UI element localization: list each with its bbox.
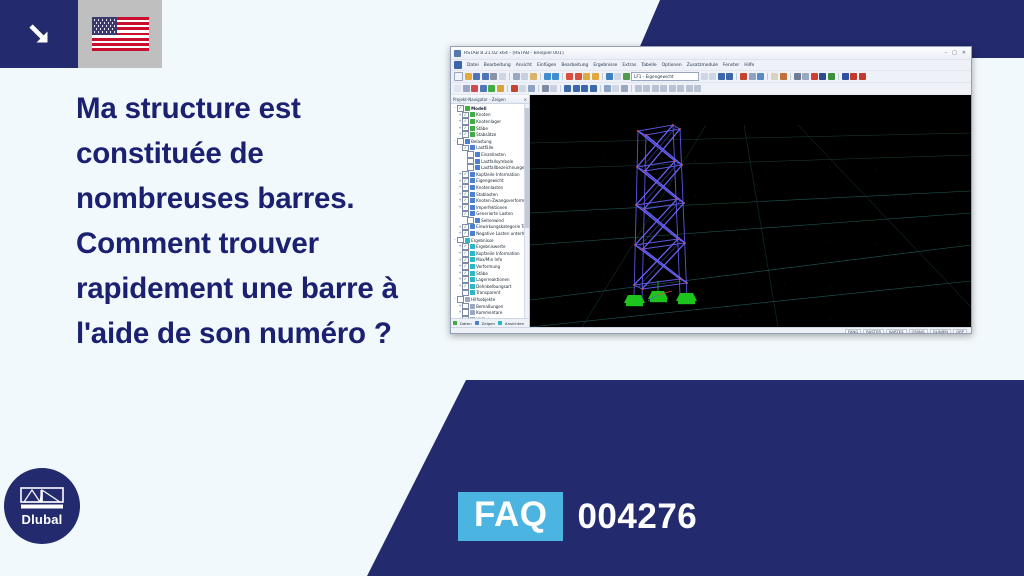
undo-icon[interactable] [544, 73, 551, 80]
application-body: Projekt-Navigator - Zeigen ✕ -✓Modell+✓K… [451, 95, 971, 327]
visibility-checkbox[interactable]: ✓ [462, 283, 469, 290]
tree-item-icon [470, 284, 475, 289]
navigator-tree-item[interactable]: +✓Kopfzeile Information [451, 171, 529, 178]
navigator-tab-zeigen[interactable]: Zeigen [475, 321, 495, 326]
wireframe-icon[interactable] [614, 73, 621, 80]
navigator-tree-item[interactable]: -✓Modell [451, 105, 529, 112]
rstab-application-window: RSTAB 8.21.02 x64 - [RSTAB - Beispiel 00… [450, 46, 972, 334]
visibility-checkbox[interactable]: ✓ [462, 250, 469, 257]
first-case-icon[interactable] [701, 73, 708, 80]
delete-icon[interactable] [811, 73, 818, 80]
open-file-icon[interactable] [465, 73, 472, 80]
node-tool-icon[interactable] [471, 85, 478, 92]
model-viewport-3d[interactable] [530, 95, 971, 327]
window-controls[interactable]: – □ ✕ [945, 51, 968, 56]
tree-item-icon [470, 264, 475, 269]
toolbar-separator [736, 73, 737, 80]
toolbar-separator [560, 85, 561, 92]
navigator-tree-item[interactable]: +✓Max/Min Info [451, 257, 529, 264]
navigator-tree-item[interactable]: +✓Einwirkungskategorie Temperatur [451, 224, 529, 231]
visibility-checkbox[interactable] [467, 151, 474, 158]
toolbar-separator [538, 85, 539, 92]
navigator-tree-item-label: Belastung [471, 139, 492, 144]
navigator-tree-item-label: Knoten-Zwangsverformungen [476, 198, 529, 203]
visibility-checkbox[interactable]: ✓ [462, 230, 469, 237]
navigator-tree-item[interactable]: +Hilflinien [451, 316, 529, 318]
navigator-tree-item-label: Hilfsobjekte [471, 297, 495, 302]
navigator-tree-item-label: Bemaßungen [476, 304, 503, 309]
navigator-tree-item-label: Stabsätze [476, 132, 496, 137]
visibility-checkbox[interactable]: ✓ [462, 263, 469, 270]
navigator-tree-item[interactable]: -✓Lastfälle [451, 145, 529, 152]
navigator-tree-item-label: Modell [471, 106, 486, 111]
deform-icon[interactable] [749, 73, 756, 80]
navigator-tree-item-label: Dehnbelbungsart [476, 284, 511, 289]
project-navigator-panel: Projekt-Navigator - Zeigen ✕ -✓Modell+✓K… [451, 95, 530, 327]
tree-item-icon [465, 238, 470, 243]
navigator-tree-item[interactable]: +✓Negative Lasten unterhalb [451, 230, 529, 237]
render-icon[interactable] [606, 73, 613, 80]
visibility-checkbox[interactable]: ✓ [462, 224, 469, 231]
show-tab-icon [475, 321, 479, 325]
navigator-tree-item[interactable]: +✓Stabsätze [451, 131, 529, 138]
navigator-tree-item-label: Seitenwind [481, 218, 504, 223]
toolbar-separator [600, 85, 601, 92]
tree-item-icon [470, 271, 475, 276]
visibility-checkbox[interactable]: ✓ [462, 270, 469, 277]
menu-item-fenster[interactable]: Fenster [723, 63, 739, 68]
navigator-tree-item-label: Generierte Lasten [476, 211, 513, 216]
data-tab-icon [453, 321, 457, 325]
navigator-tree-item[interactable]: +✓Stäbe [451, 125, 529, 132]
navigator-tree-item-label: Lastfälle [476, 145, 493, 150]
toolbar-separator [631, 85, 632, 92]
window-titlebar: RSTAB 8.21.02 x64 - [RSTAB - Beispiel 00… [451, 47, 971, 60]
status-cell-ofang[interactable]: OFANG [909, 329, 928, 334]
tree-item-icon [470, 257, 475, 262]
dimension-tool-icon[interactable] [528, 85, 535, 92]
view-top-icon[interactable] [573, 85, 580, 92]
navigator-tree-item-label: Knotenlager [476, 119, 501, 124]
navigator-tree-item[interactable]: +✓Dehnbelbungsart [451, 283, 529, 290]
visibility-checkbox[interactable] [457, 237, 464, 244]
navigator-tabs[interactable]: Daten Zeigen Ansichten [451, 318, 529, 327]
visibility-icon[interactable] [612, 85, 619, 92]
window-title: RSTAB 8.21.02 x64 - [RSTAB - Beispiel 00… [464, 51, 564, 56]
status-cell-raster[interactable]: RASTER [863, 329, 884, 334]
navigator-tree-item[interactable]: +✓Lagerreaktionen [451, 276, 529, 283]
navigator-tree-item-label: Lagerreaktionen [476, 277, 509, 282]
navigator-tree-item-label: Knoten [476, 112, 491, 117]
navigator-tree-item[interactable]: -Ergebnisse [451, 237, 529, 244]
view-iso-icon[interactable] [590, 85, 597, 92]
tree-item-icon [470, 244, 475, 249]
app-icon [454, 50, 461, 57]
tree-item-icon [475, 152, 480, 157]
zoom-window-icon[interactable] [592, 73, 599, 80]
menu-item-optionen[interactable]: Optionen [662, 63, 682, 68]
navigator-tree-item-label: Kommentare [476, 310, 502, 315]
navigator-tree-item-label: Kopfzeile Information [476, 172, 519, 177]
language-badge-group [0, 0, 162, 68]
navigator-title: Projekt-Navigator - Zeigen [453, 97, 506, 102]
print-icon[interactable] [490, 73, 497, 80]
navigator-tree-item[interactable]: +✓Kopfzeile Information [451, 250, 529, 257]
measure-icon[interactable] [635, 85, 642, 92]
tree-item-icon [470, 112, 475, 117]
array-icon[interactable] [669, 85, 676, 92]
visibility-checkbox[interactable]: ✓ [462, 243, 469, 250]
align-icon[interactable] [677, 85, 684, 92]
tree-item-icon [470, 132, 475, 137]
status-cell-fang[interactable]: FANG [845, 329, 861, 334]
status-cell-grp[interactable]: GRP [953, 329, 967, 334]
visibility-checkbox[interactable]: ✓ [462, 191, 469, 198]
truss-bridge-icon [20, 487, 64, 511]
navigator-tree-item[interactable]: Seitenwind [451, 217, 529, 224]
hinge-tool-icon[interactable] [497, 85, 504, 92]
navigator-tree-item[interactable]: +✓Verformung [451, 263, 529, 270]
results-icon[interactable] [623, 73, 630, 80]
navigator-tree-item-label: Imperfektionen [476, 205, 507, 210]
visibility-checkbox[interactable]: ✓ [462, 184, 469, 191]
arrow-down-right-icon [0, 0, 78, 68]
navigator-tree-item[interactable]: +✓Knoten-Zwangsverformungen [451, 197, 529, 204]
minimize-button[interactable]: – [945, 51, 948, 56]
decorative-shape-bottom-right [270, 380, 1024, 576]
tree-item-icon [465, 297, 470, 302]
close-button[interactable]: ✕ [962, 51, 966, 56]
navigator-tree-item[interactable]: +✓Knotenlager [451, 118, 529, 125]
toolbar-separator [767, 73, 768, 80]
menu-item-einfuegen[interactable]: Einfügen [537, 63, 556, 68]
line-tool-icon[interactable] [463, 85, 470, 92]
tree-item-icon [470, 192, 475, 197]
printout-icon[interactable] [771, 73, 778, 80]
visibility-checkbox[interactable]: ✓ [462, 276, 469, 283]
visibility-checkbox[interactable]: ✓ [462, 257, 469, 264]
navigator-tab-label: Ansichten [505, 321, 524, 326]
tree-item-icon [470, 231, 475, 236]
snap-tool-icon[interactable] [550, 85, 557, 92]
navigator-tab-label: Zeigen [482, 321, 495, 326]
tree-item-icon [470, 310, 475, 315]
toolbar-primary[interactable]: LF1 - Eigengewicht [451, 71, 971, 83]
toolbar-separator [540, 73, 541, 80]
zoom-fit-icon[interactable] [583, 73, 590, 80]
tree-item-icon [470, 205, 475, 210]
tree-item-icon [465, 139, 470, 144]
book-red-icon[interactable] [850, 73, 857, 80]
menu-item-ergebnisse[interactable]: Ergebnisse [593, 63, 617, 68]
menu-bar[interactable]: Datei Bearbeitung Ansicht Einfügen Bearb… [451, 60, 971, 71]
navigator-tree-item-label: Knotenlasten [476, 185, 503, 190]
menu-item-zusatzmodule[interactable]: Zusatzmodule [687, 63, 718, 68]
faq-number: 004276 [577, 497, 697, 537]
save-icon[interactable] [473, 73, 480, 80]
navigator-tree-item-label: Stäbe [476, 126, 488, 131]
toolbar-separator [790, 73, 791, 80]
navigator-tree[interactable]: -✓Modell+✓Knoten+✓Knotenlager+✓Stäbe+✓St… [451, 104, 529, 318]
tree-item-icon [470, 211, 475, 216]
status-bar: FANG RASTER KARTES OFANG GLINIEN GRP [451, 327, 971, 334]
book-blue-icon[interactable] [842, 73, 849, 80]
tree-item-icon [475, 218, 480, 223]
visibility-checkbox[interactable]: ✓ [462, 118, 469, 125]
visibility-checkbox[interactable]: ✓ [462, 204, 469, 211]
navigator-tree-item[interactable]: -Belastung [451, 138, 529, 145]
visibility-checkbox[interactable]: ✓ [457, 105, 464, 112]
navigator-tree-item[interactable]: +✓Knoten [451, 112, 529, 119]
dlubal-wordmark: Dlubal [22, 513, 63, 526]
poster-canvas: Ma structure est constituée de nombreuse… [0, 0, 1024, 576]
navigator-tree-item-label: Ergebniswerte [476, 244, 505, 249]
navigator-tree-item[interactable]: +✓Imperfektionen [451, 204, 529, 211]
tree-item-icon [465, 106, 470, 111]
toolbar-separator [602, 73, 603, 80]
tree-item-icon [470, 145, 475, 150]
select-icon[interactable] [794, 73, 801, 80]
menu-item-extras[interactable]: Extras [622, 63, 636, 68]
section-icon[interactable] [621, 85, 628, 92]
zoom-out-icon[interactable] [575, 73, 582, 80]
menu-item-hilfe[interactable]: Hilfe [744, 63, 754, 68]
table-icon[interactable] [757, 73, 764, 80]
tree-item-icon [470, 178, 475, 183]
navigator-tree-item[interactable]: Transparent [451, 290, 529, 297]
toolbar-separator [562, 73, 563, 80]
last-case-icon[interactable] [726, 73, 733, 80]
preview-icon[interactable] [499, 73, 506, 80]
navigator-tree-item-label: Ergebnisse [471, 238, 493, 243]
dlubal-logo: Dlubal [4, 468, 80, 544]
navigator-tree-item[interactable]: +✓Stäbe [451, 270, 529, 277]
navigator-tree-item-label: Transparent [476, 290, 500, 295]
visibility-checkbox[interactable]: ✓ [462, 197, 469, 204]
visibility-checkbox[interactable] [462, 303, 469, 310]
status-cell-glinien[interactable]: GLINIEN [930, 329, 951, 334]
module-icon[interactable] [819, 73, 826, 80]
navigator-tree-item-label: Lastfallsymbole [481, 159, 513, 164]
faq-badge: FAQ [458, 492, 563, 541]
navigator-tab-ansichten[interactable]: Ansichten [498, 321, 524, 326]
check-icon[interactable] [828, 73, 835, 80]
visibility-checkbox[interactable]: ✓ [462, 171, 469, 178]
visibility-checkbox[interactable] [467, 164, 474, 171]
toolbar-separator [838, 73, 839, 80]
navigator-tree-item-label: Verformung [476, 264, 500, 269]
menu-item-tabelle[interactable]: Tabelle [641, 63, 656, 68]
navigator-tree-item[interactable]: +Kommentare [451, 309, 529, 316]
navigator-tree-item[interactable]: +✓Eigengewicht [451, 178, 529, 185]
visibility-checkbox[interactable]: ✓ [462, 131, 469, 138]
maximize-button[interactable]: □ [952, 51, 957, 56]
navigator-tree-item-label: Einwirkungskategorie Temperatur [476, 224, 529, 229]
faq-footer: FAQ 004276 [458, 492, 697, 541]
paste-icon[interactable] [530, 73, 537, 80]
redo-icon[interactable] [552, 73, 559, 80]
cut-icon[interactable] [513, 73, 520, 80]
mirror-icon[interactable] [660, 85, 667, 92]
prev-case-icon[interactable] [709, 73, 716, 80]
calculate-icon[interactable] [740, 73, 747, 80]
navigator-tree-item[interactable]: +✓Ergebniswerte [451, 243, 529, 250]
tree-item-icon [470, 126, 475, 131]
support-tool-icon[interactable] [488, 85, 495, 92]
navigator-tree-item[interactable]: Lastfallsymbole [451, 158, 529, 165]
tree-item-icon [475, 165, 480, 170]
navigator-tree-item-label: Stablasten [476, 192, 498, 197]
visibility-checkbox[interactable] [467, 158, 474, 165]
navigator-tree-item[interactable]: +Bemaßungen [451, 303, 529, 310]
navigator-tree-item-label: Negative Lasten unterhalb [476, 231, 529, 236]
visibility-checkbox[interactable]: ✓ [462, 178, 469, 185]
menu-item-bearbeitung2[interactable]: Bearbeitung [561, 63, 588, 68]
navigator-tree-item[interactable]: +✓Knotenlasten [451, 184, 529, 191]
pointer-tool-icon[interactable] [454, 85, 461, 92]
copy-icon[interactable] [521, 73, 528, 80]
load-tool-icon[interactable] [511, 85, 518, 92]
toolbar-separator [507, 85, 508, 92]
tree-item-icon [470, 119, 475, 124]
load-case-combo[interactable]: LF1 - Eigengewicht [631, 72, 699, 82]
visibility-checkbox[interactable]: ✓ [462, 211, 469, 218]
navigator-tree-item-label: Max/Min Info [476, 257, 502, 262]
tree-item-icon [470, 198, 475, 203]
menu-item-datei[interactable]: Datei [467, 63, 479, 68]
navigator-tree-item-label: Kopfzeile Information [476, 251, 519, 256]
tree-item-icon [470, 172, 475, 177]
status-cell-kartes[interactable]: KARTES [886, 329, 907, 334]
toolbar-separator [509, 73, 510, 80]
navigator-tree-item-label: Eigengewicht [476, 178, 504, 183]
navigator-tree-item[interactable]: +✓Stablasten [451, 191, 529, 198]
navigator-scrollbar[interactable] [524, 104, 529, 318]
tree-item-icon [470, 251, 475, 256]
navigator-tree-item-label: Einzellasten [481, 152, 506, 157]
toolbar-secondary[interactable] [451, 83, 971, 95]
grid-tool-icon[interactable] [542, 85, 549, 92]
visibility-checkbox[interactable]: ✓ [462, 112, 469, 119]
save-all-icon[interactable] [482, 73, 489, 80]
visibility-checkbox[interactable] [462, 309, 469, 316]
visibility-checkbox[interactable] [457, 296, 464, 303]
rotate-icon[interactable] [643, 85, 650, 92]
tree-item-icon [470, 317, 475, 318]
navigator-tree-item[interactable]: -Hilfsobjekte [451, 296, 529, 303]
navigator-close-icon[interactable]: ✕ [524, 97, 527, 102]
view-front-icon[interactable] [564, 85, 571, 92]
zoom-in-icon[interactable] [566, 73, 573, 80]
member-tool-icon[interactable] [480, 85, 487, 92]
view-side-icon[interactable] [581, 85, 588, 92]
visibility-checkbox[interactable] [462, 290, 469, 297]
menu-item-bearbeitung[interactable]: Bearbeitung [484, 63, 511, 68]
navigator-tree-item-label: Stäbe [476, 271, 488, 276]
navigator-tree-item-label: Hilflinien [476, 317, 494, 318]
navigator-scroll-thumb[interactable] [525, 108, 529, 228]
views-tab-icon [498, 321, 502, 325]
navigator-tree-item[interactable]: Einzellasten [451, 151, 529, 158]
node-select-icon[interactable] [802, 73, 809, 80]
new-file-icon[interactable] [454, 72, 463, 81]
navigator-tree-item[interactable]: -✓Generierte Lasten [451, 211, 529, 218]
navigator-tree-item-label: Lastfallbezeichnungen [481, 165, 527, 170]
visibility-checkbox[interactable] [462, 316, 469, 318]
help-icon[interactable] [859, 73, 866, 80]
navigator-tab-daten[interactable]: Daten [453, 321, 472, 326]
visibility-checkbox[interactable] [457, 138, 464, 145]
report-icon[interactable] [780, 73, 787, 80]
us-flag-icon [78, 0, 162, 68]
group-icon[interactable] [686, 85, 693, 92]
navigator-header: Projekt-Navigator - Zeigen ✕ [451, 95, 529, 104]
tree-item-icon [475, 159, 480, 164]
tree-item-icon [470, 185, 475, 190]
navigator-tab-label: Daten [460, 321, 472, 326]
layer-icon[interactable] [604, 85, 611, 92]
navigator-tree-item[interactable]: Lastfallbezeichnungen [451, 164, 529, 171]
page-title: Ma structure est constituée de nombreuse… [76, 86, 426, 356]
surface-tool-icon[interactable] [519, 85, 526, 92]
tree-item-icon [470, 304, 475, 309]
tree-item-icon [470, 290, 475, 295]
lock-icon[interactable] [694, 85, 701, 92]
menu-item-ansicht[interactable]: Ansicht [516, 63, 532, 68]
visibility-checkbox[interactable] [467, 217, 474, 224]
visibility-checkbox[interactable]: ✓ [462, 125, 469, 132]
next-case-icon[interactable] [718, 73, 725, 80]
tree-item-icon [470, 277, 475, 282]
pan-icon[interactable] [652, 85, 659, 92]
visibility-checkbox[interactable]: ✓ [462, 145, 469, 152]
tree-item-icon [470, 224, 475, 229]
menu-app-icon [454, 61, 462, 69]
